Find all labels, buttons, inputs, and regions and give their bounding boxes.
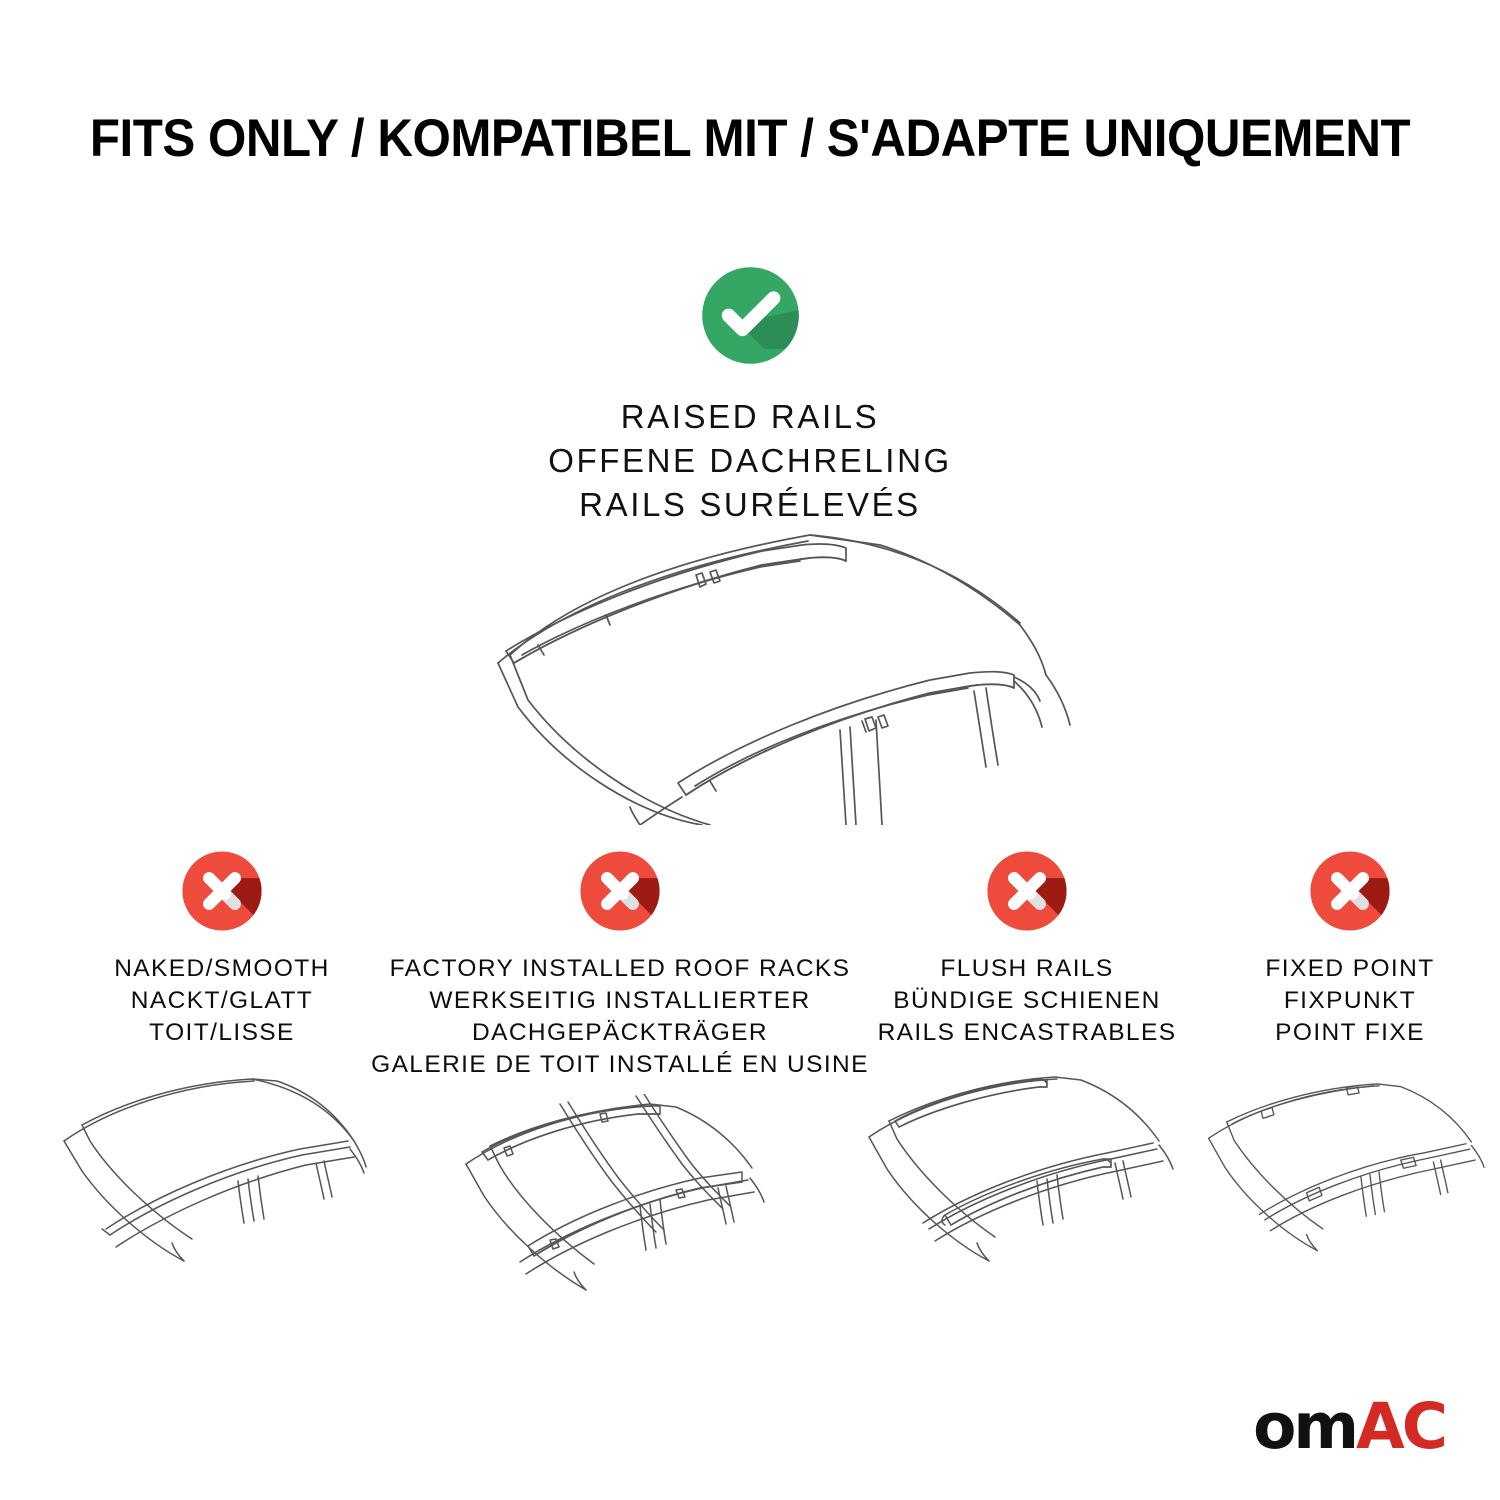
car-roof-flush-rails-diagram — [862, 1063, 1192, 1278]
label-line-en: NAKED/SMOOTH — [114, 953, 330, 985]
incompatible-label-fixed-point: FIXED POINT FIXPUNKT POINT FIXE — [1265, 953, 1434, 1049]
car-roof-naked-smooth-diagram — [62, 1063, 382, 1278]
incompatible-column-flush-rails: FLUSH RAILS BÜNDIGE SCHIENEN RAILS ENCAS… — [862, 845, 1192, 1278]
label-line-en: FACTORY INSTALLED ROOF RACKS — [371, 953, 869, 985]
label-line-en: FIXED POINT — [1265, 953, 1434, 985]
car-roof-fixed-point-diagram — [1205, 1063, 1495, 1278]
incompatible-column-fixed-point: FIXED POINT FIXPUNKT POINT FIXE — [1205, 845, 1495, 1278]
omac-logo: omAC — [1253, 1395, 1445, 1458]
label-line-de: NACKT/GLATT — [114, 985, 330, 1017]
compatible-label-line-de: OFFENE DACHRELING — [548, 439, 952, 483]
car-roof-factory-racks-diagram — [390, 1094, 850, 1309]
incompatible-label-factory-racks: FACTORY INSTALLED ROOF RACKS WERKSEITIG … — [371, 953, 869, 1080]
label-line-fr: TOIT/LISSE — [114, 1017, 330, 1049]
label-line-fr: RAILS ENCASTRABLES — [878, 1017, 1177, 1049]
x-circle-icon — [176, 845, 268, 937]
x-circle-icon — [1304, 845, 1396, 937]
label-line-de: BÜNDIGE SCHIENEN — [878, 985, 1177, 1017]
x-circle-icon — [981, 845, 1073, 937]
compatible-section: RAISED RAILS OFFENE DACHRELING RAILS SUR… — [0, 258, 1500, 527]
incompatible-column-naked-smooth: NAKED/SMOOTH NACKT/GLATT TOIT/LISSE — [62, 845, 382, 1278]
incompatible-label-naked-smooth: NAKED/SMOOTH NACKT/GLATT TOIT/LISSE — [114, 953, 330, 1049]
incompatible-column-factory-racks: FACTORY INSTALLED ROOF RACKS WERKSEITIG … — [390, 845, 850, 1309]
label-line-de: FIXPUNKT — [1265, 985, 1434, 1017]
label-line-de-2: DACHGEPÄCKTRÄGER — [371, 1017, 869, 1049]
incompatible-section: NAKED/SMOOTH NACKT/GLATT TOIT/LISSE — [0, 845, 1500, 1305]
label-line-fr: GALERIE DE TOIT INSTALLÉ EN USINE — [371, 1049, 869, 1081]
incompatible-label-flush-rails: FLUSH RAILS BÜNDIGE SCHIENEN RAILS ENCAS… — [878, 953, 1177, 1049]
x-circle-icon — [574, 845, 666, 937]
label-line-fr: POINT FIXE — [1265, 1017, 1434, 1049]
page-title: FITS ONLY / KOMPATIBEL MIT / S'ADAPTE UN… — [53, 108, 1448, 169]
label-line-de-1: WERKSEITIG INSTALLIERTER — [371, 985, 869, 1017]
check-circle-icon — [693, 258, 808, 373]
logo-text-om: om — [1253, 1395, 1356, 1458]
car-roof-raised-rails-diagram — [410, 505, 1090, 825]
label-line-en: FLUSH RAILS — [878, 953, 1177, 985]
infographic-page: FITS ONLY / KOMPATIBEL MIT / S'ADAPTE UN… — [0, 0, 1500, 1500]
compatible-label-line-en: RAISED RAILS — [548, 395, 952, 439]
logo-text-ac: AC — [1356, 1395, 1445, 1458]
